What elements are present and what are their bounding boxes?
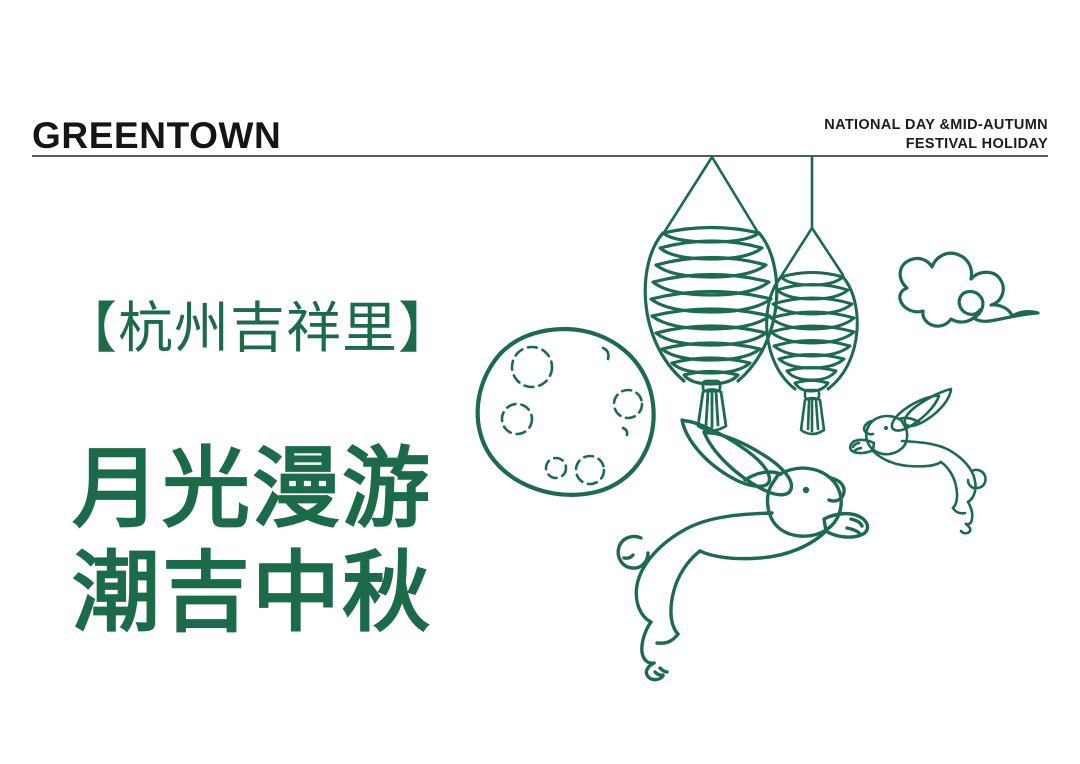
poster-header: GREENTOWN NATIONAL DAY &MID-AUTUMN FESTI… [32,98,1048,156]
rabbit-large-icon [618,420,867,680]
lantern-large-icon [645,157,777,431]
page-title-line-1: 月光漫游 [72,437,432,541]
poster-canvas: GREENTOWN NATIONAL DAY &MID-AUTUMN FESTI… [0,0,1080,764]
location-bracket-label: 【杭州吉祥里】 [62,296,454,361]
holiday-subtitle-line-2: FESTIVAL HOLIDAY [824,135,1048,154]
header-divider-rule [32,155,1048,157]
rabbit-small-icon [850,389,985,533]
lantern-small-icon [767,157,858,434]
page-title: 月光漫游 潮吉中秋 [72,437,432,645]
moon-icon [478,329,654,495]
holiday-subtitle: NATIONAL DAY &MID-AUTUMN FESTIVAL HOLIDA… [824,116,1048,156]
cloud-icon [900,253,1038,326]
holiday-subtitle-line-1: NATIONAL DAY &MID-AUTUMN [824,116,1048,135]
brand-logotype: GREENTOWN [32,117,281,156]
page-title-line-2: 潮吉中秋 [72,541,432,645]
